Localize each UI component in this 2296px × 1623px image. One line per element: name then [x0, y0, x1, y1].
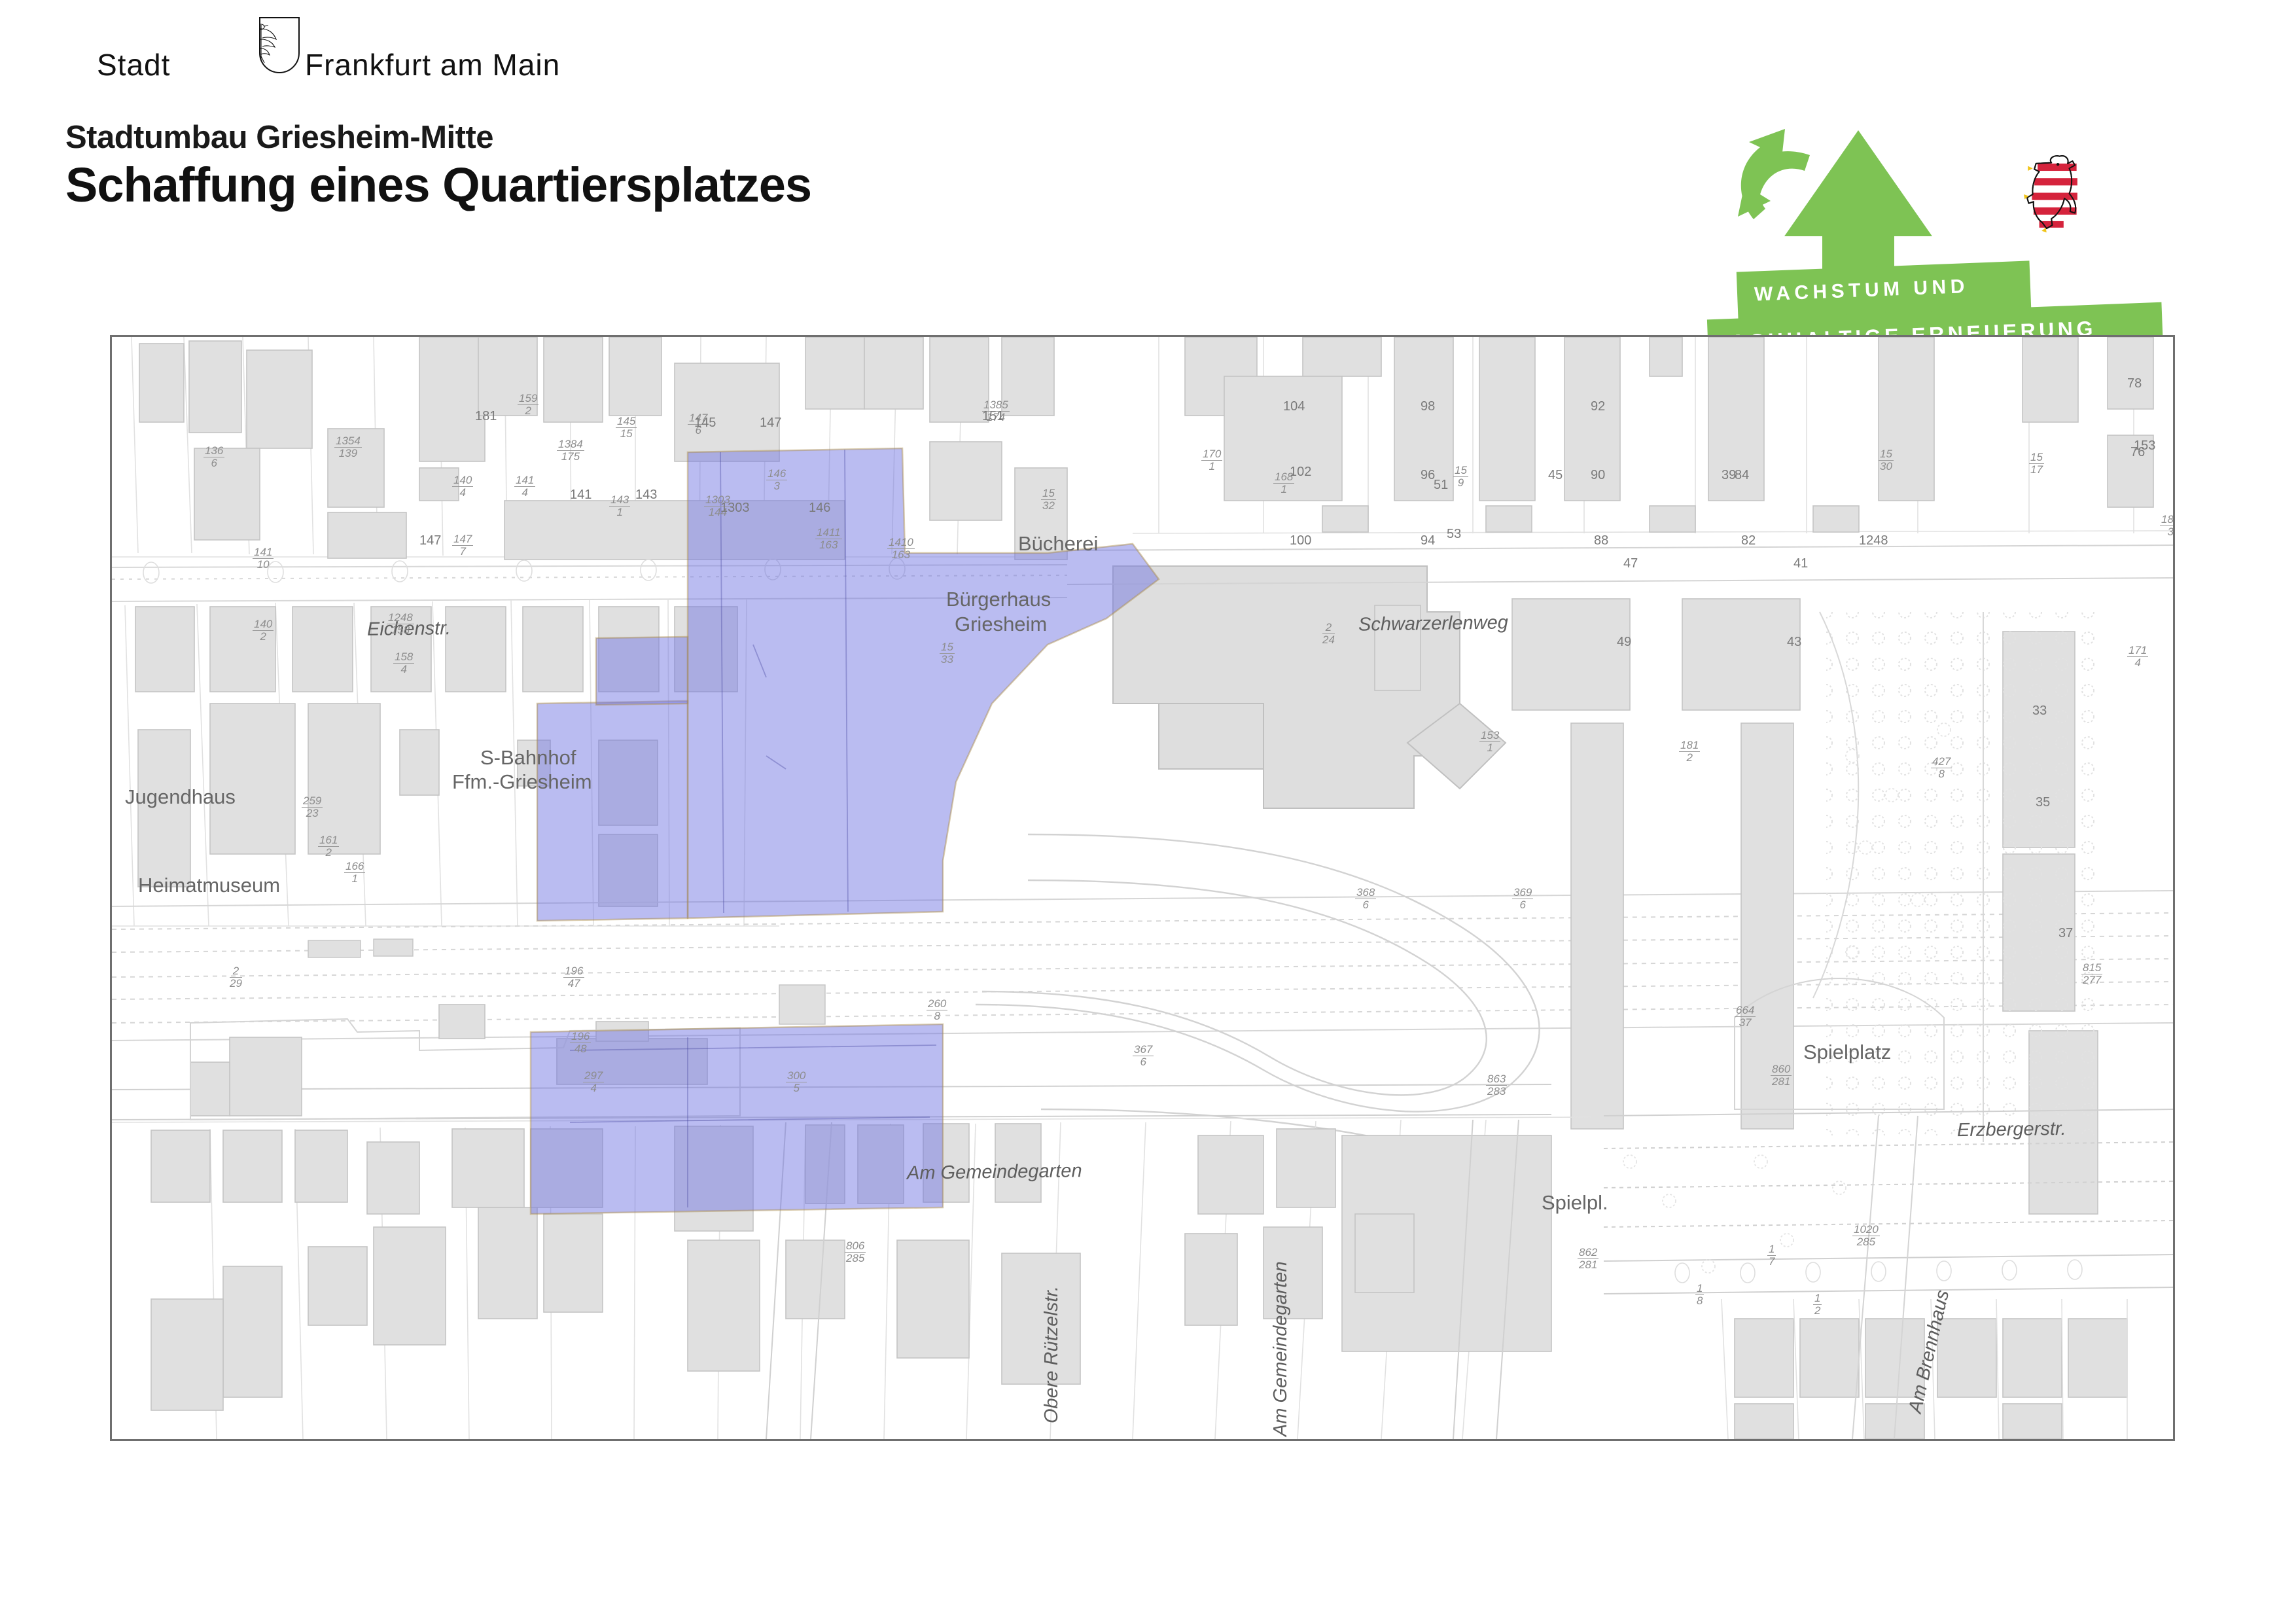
- city-logo-wordmark: Stadt Frankfurt am Main: [97, 47, 516, 86]
- city-logo-word-stadt: Stadt: [97, 47, 170, 82]
- city-logo-word-frankfurt: Frankfurt am Main: [305, 47, 560, 82]
- project-subtitle: Stadtumbau Griesheim-Mitte: [65, 119, 493, 156]
- cadastral-map[interactable]: Eichenstr. Schwarzerlenweg Erzbergerstr.…: [110, 335, 2175, 1441]
- city-of-frankfurt-logo: Stadt Frankfurt am Main: [97, 27, 516, 86]
- footer-logo-strip: Bundesministerium für Wohnen, Stadtentwi…: [0, 1486, 2296, 1616]
- map-vector-layer: [112, 337, 2173, 1439]
- page-title: Schaffung eines Quartiersplatzes: [65, 157, 811, 213]
- poster-page: Stadt Frankfurt am Main Stadtumbau Gries…: [0, 0, 2296, 1623]
